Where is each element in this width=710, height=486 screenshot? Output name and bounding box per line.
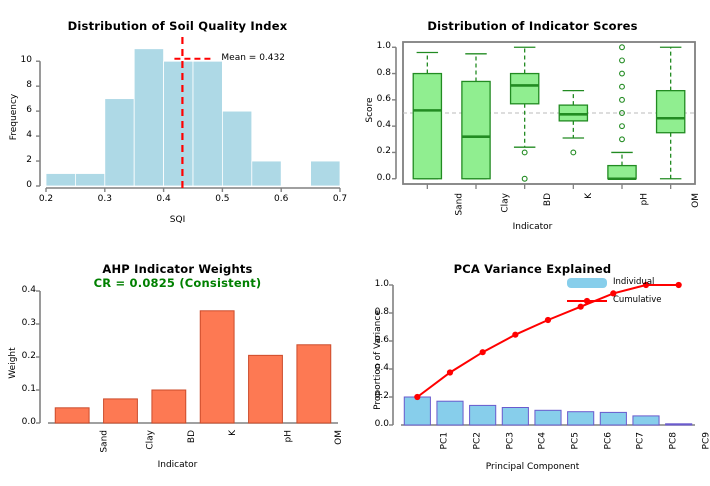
pca-title: PCA Variance Explained [355, 262, 710, 276]
boxplot-category-label: OM [691, 193, 701, 208]
ahp-ytick-label: 0.1 [4, 384, 36, 394]
pca-bar [568, 412, 594, 425]
pca-bar [535, 410, 561, 425]
pca-cumulative-point [512, 332, 518, 338]
pca-cumulative-point [414, 394, 420, 400]
boxplot-ytick-label: 0.4 [361, 120, 391, 130]
ahp-category-label: OM [334, 430, 344, 445]
histogram-ytick-label: 6 [10, 105, 32, 115]
pca-bar [470, 405, 496, 425]
figure-canvas: Distribution of Soil Quality Index Frequ… [0, 0, 710, 486]
histogram-ytick-label: 0 [10, 180, 32, 190]
pca-category-label: PC4 [538, 432, 548, 449]
pca-cumulative-point [545, 317, 551, 323]
boxplot-ytick-label: 0.8 [361, 68, 391, 78]
pca-ytick-label: 0.0 [357, 419, 389, 429]
histogram-plot [0, 0, 355, 243]
pca-legend-individual-swatch [567, 278, 607, 288]
boxplot-box [413, 53, 441, 179]
panel-ahp-weights: AHP Indicator Weights CR = 0.0825 (Consi… [0, 243, 355, 486]
boxplot-category-label: K [584, 193, 594, 199]
histogram-ytick-label: 2 [10, 155, 32, 165]
histogram-xtick-label: 0.3 [91, 194, 119, 204]
boxplot-ytick-label: 1.0 [361, 41, 391, 51]
pca-bar [600, 412, 626, 425]
histogram-xtick-label: 0.6 [267, 194, 295, 204]
pca-category-label: PC6 [603, 432, 613, 449]
histogram-bar [134, 49, 163, 186]
pca-ytick-label: 0.6 [357, 335, 389, 345]
boxplot-category-label: Sand [455, 193, 465, 216]
pca-legend-cumulative-point [584, 298, 590, 304]
pca-category-label: PC2 [472, 432, 482, 449]
pca-ytick-label: 0.2 [357, 391, 389, 401]
pca-cumulative-point [447, 369, 453, 375]
histogram-bar [311, 161, 340, 186]
ahp-consistency-ratio: CR = 0.0825 (Consistent) [0, 276, 355, 290]
histogram-xtick-label: 0.4 [150, 194, 178, 204]
boxplot-box [462, 54, 490, 179]
histogram-bar [46, 174, 75, 186]
boxplot-category-label: Clay [501, 193, 511, 213]
pca-category-label: PC8 [668, 432, 678, 449]
boxplot-ytick-label: 0.0 [361, 173, 391, 183]
boxplot-outlier-point [522, 150, 527, 155]
pca-cumulative-point [676, 282, 682, 288]
histogram-ytick-label: 8 [10, 80, 32, 90]
pca-legend-individual-label: Individual [613, 277, 654, 287]
boxplot-outlier-point [620, 137, 625, 142]
histogram-title: Distribution of Soil Quality Index [0, 19, 355, 33]
histogram-bar [164, 61, 193, 186]
boxplot-box [657, 47, 685, 178]
boxplot-title: Distribution of Indicator Scores [355, 19, 710, 33]
panel-pca-variance: PCA Variance Explained Proportion of Var… [355, 243, 710, 486]
pca-plot [355, 243, 710, 486]
boxplot-ylabel: Score [365, 80, 375, 140]
pca-category-label: PC7 [636, 432, 646, 449]
ahp-xlabel: Indicator [0, 460, 355, 470]
ahp-ytick-label: 0.4 [4, 285, 36, 295]
histogram-ytick-label: 4 [10, 130, 32, 140]
boxplot-category-label: BD [543, 193, 553, 206]
histogram-bar [252, 161, 281, 186]
ahp-bar [55, 408, 89, 423]
ahp-bar [297, 345, 331, 423]
pca-cumulative-point [480, 349, 486, 355]
boxplot-outlier-point [571, 150, 576, 155]
histogram-bar [105, 99, 134, 186]
pca-ytick-label: 1.0 [357, 279, 389, 289]
pca-bar [666, 424, 692, 425]
boxplot-plot [355, 0, 710, 243]
histogram-bar [75, 174, 104, 186]
pca-category-label: PC5 [570, 432, 580, 449]
histogram-xlabel: SQI [0, 215, 355, 225]
boxplot-outlier-point [620, 84, 625, 89]
ahp-ytick-label: 0.3 [4, 318, 36, 328]
pca-bar [502, 408, 528, 426]
histogram-xtick-label: 0.7 [326, 194, 354, 204]
pca-category-label: PC3 [505, 432, 515, 449]
panel-boxplot: Distribution of Indicator Scores Score I… [355, 0, 710, 243]
ahp-bar [200, 311, 234, 423]
ahp-category-label: Clay [145, 430, 155, 450]
pca-category-label: PC9 [701, 432, 710, 449]
ahp-bar [249, 355, 283, 423]
boxplot-outlier-point [522, 176, 527, 181]
boxplot-ytick-label: 0.6 [361, 94, 391, 104]
ahp-title: AHP Indicator Weights [0, 262, 355, 276]
boxplot-outlier-point [620, 124, 625, 129]
pca-cumulative-point [578, 304, 584, 310]
ahp-ytick-label: 0.0 [4, 417, 36, 427]
pca-ytick-label: 0.8 [357, 307, 389, 317]
ahp-ytick-label: 0.2 [4, 351, 36, 361]
histogram-mean-annotation: Mean = 0.432 [221, 53, 285, 63]
boxplot-outlier-point [620, 58, 625, 63]
histogram-xtick-label: 0.5 [208, 194, 236, 204]
boxplot-box [559, 91, 587, 155]
ahp-category-label: pH [283, 430, 293, 442]
boxplot-outlier-point [620, 45, 625, 50]
pca-xlabel: Principal Component [355, 462, 710, 472]
pca-bar [633, 416, 659, 425]
ahp-category-label: Sand [100, 430, 110, 453]
ahp-bar [152, 390, 186, 423]
boxplot-box [608, 45, 636, 179]
pca-bar [404, 397, 430, 425]
boxplot-outlier-point [620, 97, 625, 102]
boxplot-category-label: pH [639, 193, 649, 205]
pca-ytick-label: 0.4 [357, 363, 389, 373]
pca-category-label: PC1 [440, 432, 450, 449]
histogram-xtick-label: 0.2 [32, 194, 60, 204]
pca-bar [437, 401, 463, 425]
histogram-bar [222, 111, 251, 186]
pca-legend-cumulative-label: Cumulative [613, 295, 662, 305]
boxplot-outlier-point [620, 71, 625, 76]
ahp-category-label: K [228, 430, 238, 436]
histogram-ytick-label: 10 [10, 55, 32, 65]
ahp-bar [104, 399, 138, 423]
boxplot-ytick-label: 0.2 [361, 146, 391, 156]
boxplot-box [511, 47, 539, 181]
histogram-bar [193, 61, 222, 186]
panel-histogram: Distribution of Soil Quality Index Frequ… [0, 0, 355, 243]
boxplot-xlabel: Indicator [355, 222, 710, 232]
ahp-category-label: BD [187, 430, 197, 443]
